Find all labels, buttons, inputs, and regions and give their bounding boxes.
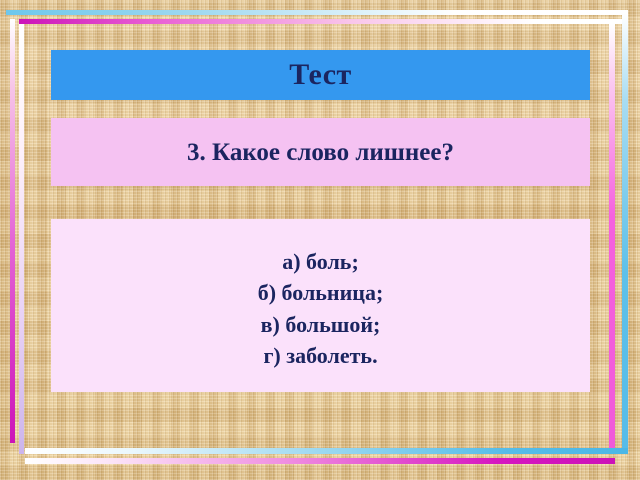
- frame-line-right-magenta: [609, 24, 615, 451]
- frame-line-bottom-magenta: [25, 458, 615, 464]
- frame-line-top-magenta: [19, 19, 624, 24]
- frame-line-top-blue: [6, 10, 628, 15]
- title-banner: Тест: [51, 50, 590, 100]
- frame-line-left-magenta: [10, 19, 15, 443]
- frame-line-left-white: [19, 24, 24, 454]
- slide-canvas: Тест 3. Какое слово лишнее? а) боль; б) …: [0, 0, 640, 480]
- frame-line-right-blue: [622, 14, 628, 448]
- question-banner: 3. Какое слово лишнее?: [51, 118, 590, 186]
- answer-option-b[interactable]: б) больница;: [258, 277, 384, 308]
- slide-title: Тест: [289, 60, 352, 90]
- answer-option-v[interactable]: в) большой;: [261, 309, 381, 340]
- frame-line-bottom-blue: [25, 448, 628, 454]
- answers-panel: а) боль; б) больница; в) большой; г) заб…: [51, 219, 590, 392]
- answer-option-a[interactable]: а) боль;: [282, 246, 359, 277]
- answer-option-g[interactable]: г) заболеть.: [263, 340, 377, 371]
- question-text: 3. Какое слово лишнее?: [187, 140, 454, 165]
